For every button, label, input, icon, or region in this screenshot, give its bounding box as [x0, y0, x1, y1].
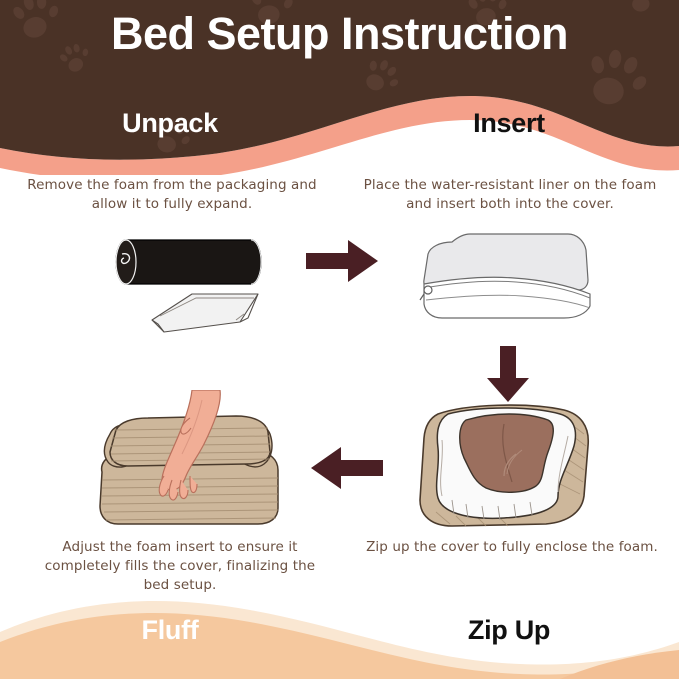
step-heading-insert: Insert — [339, 108, 679, 139]
page-title: Bed Setup Instruction — [0, 8, 679, 60]
footer-banner: Fluff Zip Up — [0, 584, 679, 679]
arrow-left-icon — [311, 447, 383, 489]
step-heading-unpack: Unpack — [0, 108, 340, 139]
illustration-foam-in-cover — [418, 228, 593, 340]
step-heading-fluff: Fluff — [0, 615, 340, 646]
liner-sheet-shape — [152, 294, 258, 332]
illustration-hand-fluffing-bed — [86, 390, 291, 530]
step-description-zip: Zip up the cover to fully enclose the fo… — [362, 538, 662, 557]
step-description-unpack: Remove the foam from the packaging and a… — [18, 176, 326, 214]
step-heading-zipup: Zip Up — [339, 615, 679, 646]
header-banner: Bed Setup Instruction Unpack Insert — [0, 0, 679, 175]
arrow-right-icon — [306, 240, 378, 282]
foam-roll-shape — [116, 240, 261, 284]
arrow-down-icon — [487, 346, 529, 402]
infographic-canvas: Bed Setup Instruction Unpack Insert Remo… — [0, 0, 679, 679]
step-description-insert: Place the water-resistant liner on the f… — [352, 176, 668, 214]
illustration-zipped-pet-bed — [408, 400, 598, 530]
illustration-foam-roll-and-liner — [108, 228, 273, 340]
